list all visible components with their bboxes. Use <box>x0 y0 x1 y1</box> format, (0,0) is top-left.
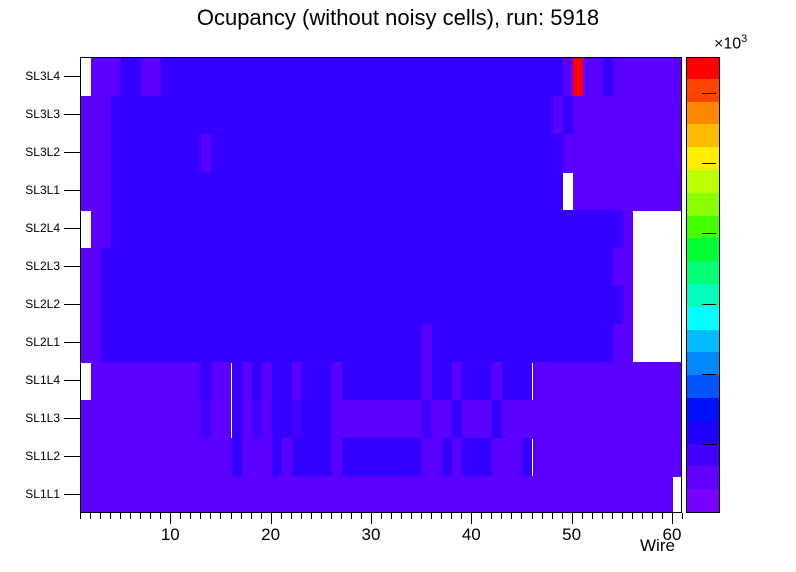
y-axis-label: SL1L4 <box>0 373 60 387</box>
x-axis-minor-tick <box>110 513 111 519</box>
x-axis-minor-tick <box>451 513 452 519</box>
colorbar-segment <box>687 101 719 124</box>
heatmap-cell <box>272 362 292 401</box>
x-axis-minor-tick <box>562 513 563 519</box>
heatmap-cell <box>282 438 292 477</box>
y-axis-label: SL2L3 <box>0 259 60 273</box>
heatmap-cell <box>211 400 231 439</box>
heatmap-cell <box>553 96 563 135</box>
colorbar-segment <box>687 489 719 512</box>
x-axis-minor-tick <box>281 513 282 519</box>
colorbar-exponent-power: 3 <box>741 33 747 45</box>
heatmap-cell <box>452 400 462 439</box>
colorbar-segment <box>687 466 719 489</box>
x-axis-minor-tick <box>130 513 131 519</box>
colorbar-tick <box>702 233 716 234</box>
colorbar-segment <box>687 329 719 352</box>
heatmap-cell <box>462 438 492 477</box>
colorbar-tick <box>702 374 716 375</box>
x-axis-minor-tick <box>582 513 583 519</box>
heatmap-cell <box>302 400 332 439</box>
y-axis-label: SL2L2 <box>0 297 60 311</box>
x-axis-minor-tick <box>662 513 663 519</box>
colorbar-tick <box>702 93 716 94</box>
heatmap-cell <box>262 400 272 439</box>
heatmap-cell <box>211 134 562 173</box>
heatmap-cell <box>533 362 683 401</box>
y-axis-label: SL1L3 <box>0 411 60 425</box>
x-axis-minor-tick <box>361 513 362 519</box>
root-canvas: Ocupancy (without noisy cells), run: 591… <box>0 0 796 572</box>
x-axis-minor-tick <box>542 513 543 519</box>
x-axis-minor-tick <box>190 513 191 519</box>
heatmap-cell <box>81 476 673 513</box>
x-axis-minor-tick <box>381 513 382 519</box>
x-axis-minor-tick <box>552 513 553 519</box>
heatmap-cell <box>101 286 623 325</box>
colorbar-segment <box>687 352 719 375</box>
heatmap-cell <box>462 400 492 439</box>
heatmap-cell <box>623 286 633 325</box>
heatmap-cell <box>422 324 432 363</box>
x-axis-minor-tick <box>682 513 683 519</box>
colorbar-tick <box>702 163 716 164</box>
heatmap-cell <box>272 400 292 439</box>
x-axis-minor-tick <box>421 513 422 519</box>
x-axis-title: Wire <box>640 536 675 556</box>
colorbar-segment <box>687 169 719 192</box>
y-axis-label: SL3L4 <box>0 69 60 83</box>
heatmap-cell <box>613 248 633 287</box>
colorbar-segment <box>687 420 719 443</box>
x-axis-minor-tick <box>521 513 522 519</box>
x-axis-minor-tick <box>100 513 101 519</box>
heatmap-cell <box>211 362 231 401</box>
heatmap-cell <box>332 400 422 439</box>
y-axis-label: SL2L1 <box>0 335 60 349</box>
colorbar-tick <box>702 304 716 305</box>
heatmap-cell <box>81 400 201 439</box>
x-axis-minor-tick <box>80 513 81 519</box>
colorbar-segment <box>687 124 719 147</box>
heatmap-cell <box>101 324 422 363</box>
x-axis-minor-tick <box>401 513 402 519</box>
heatmap-cell <box>292 438 332 477</box>
heatmap-cell <box>292 400 302 439</box>
heatmap-cell <box>442 438 452 477</box>
heatmap-cell <box>502 400 682 439</box>
y-axis-tick <box>64 266 80 267</box>
heatmap-cell <box>81 438 232 477</box>
heatmap-cell <box>603 58 613 97</box>
x-axis-minor-tick <box>90 513 91 519</box>
x-axis-minor-tick <box>481 513 482 519</box>
heatmap-cell <box>522 438 532 477</box>
heatmap-cell <box>432 400 452 439</box>
heatmap-cell <box>492 362 502 401</box>
y-axis-tick <box>64 418 80 419</box>
y-axis-tick <box>64 114 80 115</box>
x-axis-minor-tick <box>642 513 643 519</box>
heatmap-cell <box>613 324 633 363</box>
x-axis-major-tick <box>371 513 372 524</box>
heatmap-cell <box>492 438 522 477</box>
heatmap-cell <box>432 362 452 401</box>
x-axis-minor-tick <box>511 513 512 519</box>
y-axis-tick <box>64 76 80 77</box>
colorbar-segment <box>687 443 719 466</box>
x-axis-label: 50 <box>562 525 581 545</box>
colorbar-segment <box>687 238 719 261</box>
heatmap-cell <box>623 210 633 249</box>
x-axis-label: 10 <box>161 525 180 545</box>
x-axis-minor-tick <box>441 513 442 519</box>
x-axis-minor-tick <box>210 513 211 519</box>
heatmap-cell <box>91 58 121 97</box>
x-axis-minor-tick <box>652 513 653 519</box>
heatmap-cell <box>292 362 302 401</box>
heatmap-cell <box>91 210 111 249</box>
heatmap-cell <box>201 400 211 439</box>
x-axis-minor-tick <box>411 513 412 519</box>
y-axis-label: SL3L2 <box>0 145 60 159</box>
heatmap-cell <box>573 96 682 135</box>
x-axis-minor-tick <box>220 513 221 519</box>
x-axis-minor-tick <box>241 513 242 519</box>
x-axis-label: 40 <box>462 525 481 545</box>
heatmap-cell <box>302 362 332 401</box>
y-axis-label: SL3L3 <box>0 107 60 121</box>
heatmap-cell <box>111 172 563 211</box>
heatmap-cell <box>242 400 252 439</box>
x-axis-minor-tick <box>291 513 292 519</box>
heatmap-cell <box>342 438 422 477</box>
colorbar-segment <box>687 57 719 79</box>
y-axis-label: SL3L1 <box>0 183 60 197</box>
y-axis-tick <box>64 342 80 343</box>
heatmap-cell <box>332 362 342 401</box>
heatmap-cell <box>452 362 462 401</box>
heatmap-cell <box>91 362 201 401</box>
heatmap-cell <box>81 172 111 211</box>
heatmap-cell <box>201 134 211 173</box>
y-axis-tick <box>64 190 80 191</box>
heatmap-cell <box>462 362 492 401</box>
heatmap-cell <box>563 134 682 173</box>
y-axis-label: SL2L4 <box>0 221 60 235</box>
y-axis-label: SL1L2 <box>0 449 60 463</box>
heatmap-cell <box>161 58 562 97</box>
heatmap-plot-frame[interactable] <box>80 57 682 513</box>
y-axis-tick <box>64 304 80 305</box>
heatmap-cell <box>232 400 242 439</box>
x-axis-minor-tick <box>592 513 593 519</box>
heatmap-cell <box>242 362 252 401</box>
heatmap-cell <box>252 400 262 439</box>
x-axis-label: 20 <box>261 525 280 545</box>
heatmap-cell <box>422 438 442 477</box>
heatmap-cell <box>232 362 242 401</box>
x-axis-label: 30 <box>361 525 380 545</box>
heatmap-cell <box>101 248 613 287</box>
heatmap-cell <box>111 96 552 135</box>
heatmap-cell <box>342 362 422 401</box>
heatmap-cell <box>422 400 432 439</box>
heatmap-cell <box>492 400 502 439</box>
y-axis-tick <box>64 152 80 153</box>
heatmap-cell <box>573 172 682 211</box>
heatmap-cell <box>573 58 583 97</box>
colorbar-segment <box>687 192 719 215</box>
colorbar-tick <box>702 444 716 445</box>
x-axis-major-tick <box>572 513 573 524</box>
y-axis-tick <box>64 456 80 457</box>
heatmap-cell <box>111 134 201 173</box>
colorbar-exponent-label: ×103 <box>714 33 747 53</box>
x-axis-minor-tick <box>311 513 312 519</box>
heatmap-cell <box>242 438 272 477</box>
heatmap-cell <box>563 58 573 97</box>
colorbar-segment <box>687 78 719 101</box>
x-axis-minor-tick <box>200 513 201 519</box>
heatmap-cell <box>332 438 342 477</box>
heatmap-cell <box>272 438 282 477</box>
heatmap-cell <box>81 248 101 287</box>
heatmap-cell <box>252 362 262 401</box>
x-axis-minor-tick <box>140 513 141 519</box>
y-axis-tick <box>64 380 80 381</box>
x-axis-minor-tick <box>231 513 232 519</box>
x-axis-minor-tick <box>150 513 151 519</box>
x-axis-minor-tick <box>331 513 332 519</box>
colorbar-segment <box>687 397 719 420</box>
x-axis-minor-tick <box>261 513 262 519</box>
page-title: Ocupancy (without noisy cells), run: 591… <box>0 5 796 31</box>
x-axis-minor-tick <box>120 513 121 519</box>
colorbar-segment <box>687 147 719 170</box>
x-axis-minor-tick <box>622 513 623 519</box>
colorbar-segment <box>687 215 719 238</box>
heatmap-cell <box>81 96 111 135</box>
heatmap-cell <box>81 286 101 325</box>
x-axis-minor-tick <box>351 513 352 519</box>
colorbar-segment <box>687 375 719 398</box>
heatmap-cell <box>121 58 141 97</box>
heatmap-cell <box>533 438 683 477</box>
color-scale-bar[interactable]: 0102030405060 <box>686 57 720 513</box>
x-axis-minor-tick <box>632 513 633 519</box>
heatmap-cell <box>422 362 432 401</box>
colorbar-segment <box>687 306 719 329</box>
heatmap-cell <box>81 324 101 363</box>
x-axis-minor-tick <box>461 513 462 519</box>
x-axis-minor-tick <box>532 513 533 519</box>
x-axis-minor-tick <box>321 513 322 519</box>
x-axis-minor-tick <box>160 513 161 519</box>
x-axis-minor-tick <box>251 513 252 519</box>
heatmap-cell <box>111 210 623 249</box>
x-axis-minor-tick <box>180 513 181 519</box>
x-axis-major-tick <box>271 513 272 524</box>
x-axis-minor-tick <box>341 513 342 519</box>
heatmap-cell <box>201 362 211 401</box>
x-axis-minor-tick <box>501 513 502 519</box>
x-axis-minor-tick <box>602 513 603 519</box>
heatmap-cell <box>232 438 242 477</box>
x-axis-minor-tick <box>612 513 613 519</box>
y-axis-tick <box>64 228 80 229</box>
x-axis-minor-tick <box>431 513 432 519</box>
heatmap-cells[interactable] <box>81 58 681 512</box>
heatmap-cell <box>502 362 532 401</box>
x-axis-major-tick <box>672 513 673 524</box>
heatmap-cell <box>141 58 161 97</box>
colorbar-segment <box>687 261 719 284</box>
x-axis-minor-tick <box>391 513 392 519</box>
x-axis-minor-tick <box>301 513 302 519</box>
heatmap-cell <box>613 58 682 97</box>
x-axis-major-tick <box>471 513 472 524</box>
x-axis-major-tick <box>170 513 171 524</box>
heatmap-cell <box>432 324 613 363</box>
colorbar-exponent-base: ×10 <box>714 35 741 52</box>
y-axis-label: SL1L1 <box>0 487 60 501</box>
y-axis-tick <box>64 494 80 495</box>
heatmap-cell <box>583 58 603 97</box>
x-axis-minor-tick <box>491 513 492 519</box>
heatmap-cell <box>452 438 462 477</box>
heatmap-cell <box>563 96 573 135</box>
heatmap-cell <box>81 134 111 173</box>
heatmap-cell <box>262 362 272 401</box>
